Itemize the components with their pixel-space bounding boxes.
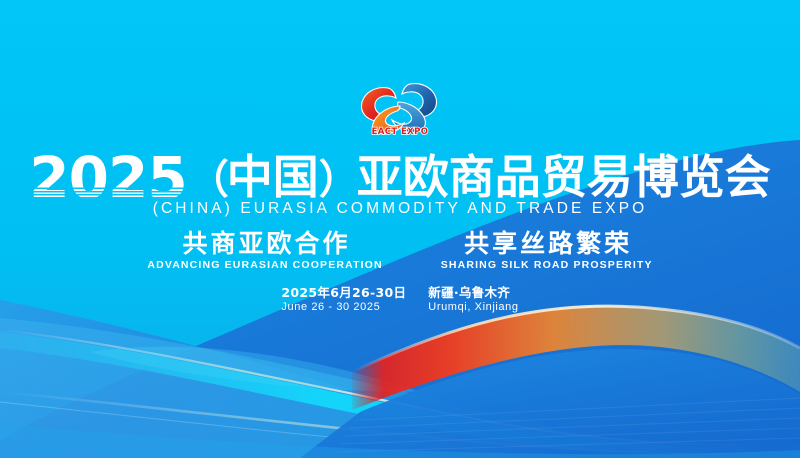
place-english: Urumqi, Xinjiang xyxy=(428,300,518,314)
slogan-2-english: SHARING SILK ROAD PROSPERITY xyxy=(441,259,653,271)
background-waves xyxy=(0,0,800,458)
main-title-row: 2025 （中国）亚欧商品贸易博览会 xyxy=(0,148,800,206)
date-block: 2025年6月26-30日 June 26 - 30 2025 xyxy=(281,285,406,314)
title-paren-close: ） xyxy=(319,157,357,203)
info-row: 2025年6月26-30日 June 26 - 30 2025 新疆·乌鲁木齐 … xyxy=(0,285,800,314)
date-chinese: 2025年6月26-30日 xyxy=(281,285,406,300)
title-paren-open: （ xyxy=(189,157,227,203)
title-chinese-rest: 亚欧商品贸易博览会 xyxy=(357,150,771,204)
title-chinese: （中国）亚欧商品贸易博览会 xyxy=(189,152,771,205)
logo-wordmark: EACT EXPO xyxy=(372,127,429,137)
title-country: 中国 xyxy=(227,150,319,204)
expo-poster: EACT EXPO 2025 （中国）亚欧商品贸易博览会 (CHINA) EUR… xyxy=(0,0,800,458)
place-chinese: 新疆·乌鲁木齐 xyxy=(428,285,518,300)
title-english: (CHINA) EURASIA COMMODITY AND TRADE EXPO xyxy=(0,200,800,218)
slogan-row: 共商亚欧合作 ADVANCING EURASIAN COOPERATION 共享… xyxy=(0,230,800,276)
eact-expo-logo: EACT EXPO xyxy=(354,78,446,138)
slogan-1: 共商亚欧合作 ADVANCING EURASIAN COOPERATION xyxy=(147,230,382,271)
slogan-2: 共享丝路繁荣 SHARING SILK ROAD PROSPERITY xyxy=(441,230,653,271)
place-block: 新疆·乌鲁木齐 Urumqi, Xinjiang xyxy=(428,285,518,314)
slogan-1-chinese: 共商亚欧合作 xyxy=(147,230,382,258)
date-english: June 26 - 30 2025 xyxy=(281,300,406,314)
logo-container: EACT EXPO xyxy=(0,78,800,140)
title-year: 2025 xyxy=(29,150,188,206)
slogan-1-english: ADVANCING EURASIAN COOPERATION xyxy=(147,259,382,271)
slogan-2-chinese: 共享丝路繁荣 xyxy=(441,230,653,258)
